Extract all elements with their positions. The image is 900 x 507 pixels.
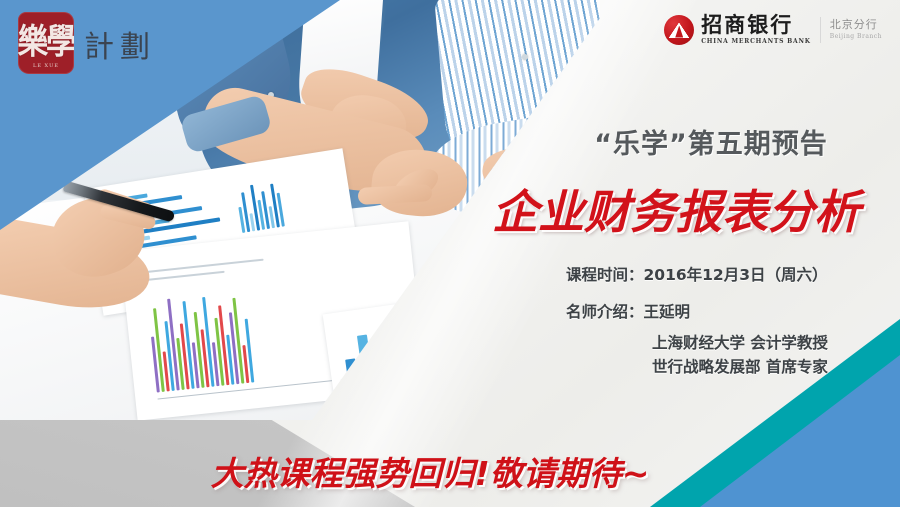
bank-branch-block: 北京分行 Beijing Branch [830,19,882,40]
course-schedule: 课程时间：2016年12月3日（周六） [566,263,828,285]
photo-shirt-button [522,54,528,60]
bank-name-block: 招商银行 CHINA MERCHANTS BANK [701,14,811,45]
lexue-seal-logo: 樂學 LE XUE [18,12,74,74]
speaker-name: 名师介绍：王延明 [566,300,690,322]
bank-branch-zh: 北京分行 [830,19,882,30]
bank-branch-en: Beijing Branch [830,33,882,40]
bank-name-en: CHINA MERCHANTS BANK [701,38,811,45]
program-wordmark: 計劃 [84,22,156,66]
speaker-credential-1: 上海财经大学 会计学教授 [652,331,828,353]
seal-characters: 樂學 [18,26,74,61]
bank-name-zh: 招商银行 [701,14,811,35]
series-headline: “乐学”第五期预告 [546,122,876,161]
cmb-emblem-icon [664,15,694,45]
promo-poster: 樂學 LE XUE 計劃 招商银行 CHINA MERCHANTS BANK 北… [0,0,900,507]
logo-divider [820,17,821,43]
page-title: 企业财务报表分析 [466,176,886,242]
bottom-slogan: 大热课程强势回归!敬请期待~ [0,447,900,495]
seal-subtext: LE XUE [18,63,74,69]
speaker-credential-2: 世行战略发展部 首席专家 [652,355,828,377]
bank-logo: 招商银行 CHINA MERCHANTS BANK 北京分行 Beijing B… [664,14,882,45]
